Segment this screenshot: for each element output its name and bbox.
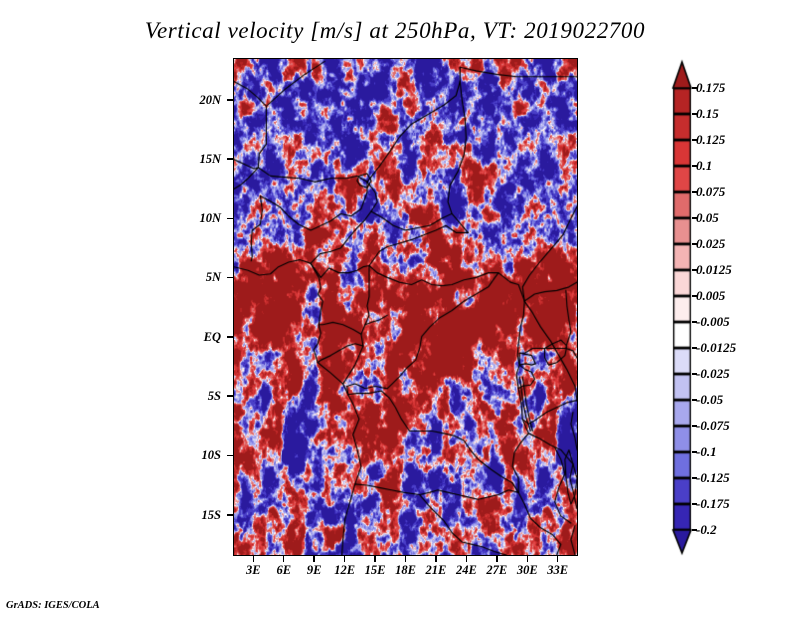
colorbar-tick-label: 0.005 bbox=[696, 289, 725, 302]
y-axis-tick bbox=[227, 455, 233, 457]
x-axis-tick bbox=[374, 556, 376, 562]
x-axis-tick bbox=[435, 556, 437, 562]
y-axis-tick bbox=[227, 99, 233, 101]
colorbar-tick-label: 0.05 bbox=[696, 211, 719, 224]
grads-plot-page: Vertical velocity [m/s] at 250hPa, VT: 2… bbox=[0, 0, 800, 618]
colorbar-tick bbox=[692, 529, 697, 531]
y-axis-tick bbox=[227, 395, 233, 397]
colorbar-tick bbox=[692, 503, 697, 505]
y-axis-tick-label: 20N bbox=[181, 93, 221, 108]
y-axis-tick-label: 5N bbox=[181, 270, 221, 285]
colorbar-tick bbox=[692, 243, 697, 245]
y-axis-tick-label: 15N bbox=[181, 152, 221, 167]
y-axis-tick bbox=[227, 158, 233, 160]
colorbar-tick-label: -0.175 bbox=[696, 497, 730, 510]
colorbar-tick bbox=[692, 399, 697, 401]
colorbar-tick-label: 0.125 bbox=[696, 133, 725, 146]
colorbar-tick-label: -0.05 bbox=[696, 393, 723, 406]
y-axis-tick bbox=[227, 514, 233, 516]
x-axis-tick bbox=[527, 556, 529, 562]
colorbar-tick-label: -0.1 bbox=[696, 445, 717, 458]
colorbar-tick-label: 0.075 bbox=[696, 185, 725, 198]
y-axis-tick bbox=[227, 336, 233, 338]
colorbar-tick bbox=[692, 165, 697, 167]
colorbar-tick bbox=[692, 321, 697, 323]
colorbar-tick-label: 0.025 bbox=[696, 237, 725, 250]
x-axis-tick bbox=[466, 556, 468, 562]
x-axis-tick bbox=[496, 556, 498, 562]
colorbar-tick bbox=[692, 477, 697, 479]
colorbar-tick-label: -0.0125 bbox=[696, 341, 736, 354]
colorbar-tick bbox=[692, 451, 697, 453]
colorbar-tick bbox=[692, 295, 697, 297]
colorbar-tick-label: -0.125 bbox=[696, 471, 730, 484]
colorbar: 0.1750.150.1250.10.0750.050.0250.01250.0… bbox=[668, 58, 798, 558]
y-axis-tick-label: 10N bbox=[181, 211, 221, 226]
y-axis-tick bbox=[227, 277, 233, 279]
y-axis-tick bbox=[227, 218, 233, 220]
page-title: Vertical velocity [m/s] at 250hPa, VT: 2… bbox=[0, 18, 790, 44]
colorbar-tick bbox=[692, 269, 697, 271]
colorbar-tick bbox=[692, 113, 697, 115]
colorbar-tick bbox=[692, 87, 697, 89]
y-axis-tick-label: 5S bbox=[181, 389, 221, 404]
grads-attribution: GrADS: IGES/COLA bbox=[6, 600, 100, 611]
colorbar-tick bbox=[692, 425, 697, 427]
colorbar-tick bbox=[692, 347, 697, 349]
x-axis-tick bbox=[557, 556, 559, 562]
x-axis-tick bbox=[283, 556, 285, 562]
y-axis-tick-label: 15S bbox=[181, 508, 221, 523]
colorbar-tick-label: 0.1 bbox=[696, 159, 712, 172]
colorbar-tick-label: -0.075 bbox=[696, 419, 730, 432]
country-boundaries-overlay bbox=[234, 59, 577, 555]
colorbar-tick-label: 0.0125 bbox=[696, 263, 732, 276]
colorbar-tick bbox=[692, 217, 697, 219]
x-axis-tick bbox=[313, 556, 315, 562]
x-axis-tick bbox=[344, 556, 346, 562]
colorbar-tick bbox=[692, 373, 697, 375]
colorbar-tick bbox=[692, 191, 697, 193]
colorbar-tick-label: -0.2 bbox=[696, 523, 717, 536]
colorbar-tick-label: 0.15 bbox=[696, 107, 719, 120]
colorbar-tick bbox=[692, 139, 697, 141]
colorbar-tick-label: -0.005 bbox=[696, 315, 730, 328]
x-axis-tick-label: 33E bbox=[538, 563, 578, 578]
y-axis-tick-label: EQ bbox=[181, 330, 221, 345]
colorbar-tick-label: -0.025 bbox=[696, 367, 730, 380]
map-plot-area bbox=[233, 58, 578, 556]
x-axis-tick bbox=[405, 556, 407, 562]
x-axis-tick bbox=[253, 556, 255, 562]
y-axis-tick-label: 10S bbox=[181, 448, 221, 463]
colorbar-tick-label: 0.175 bbox=[696, 81, 725, 94]
